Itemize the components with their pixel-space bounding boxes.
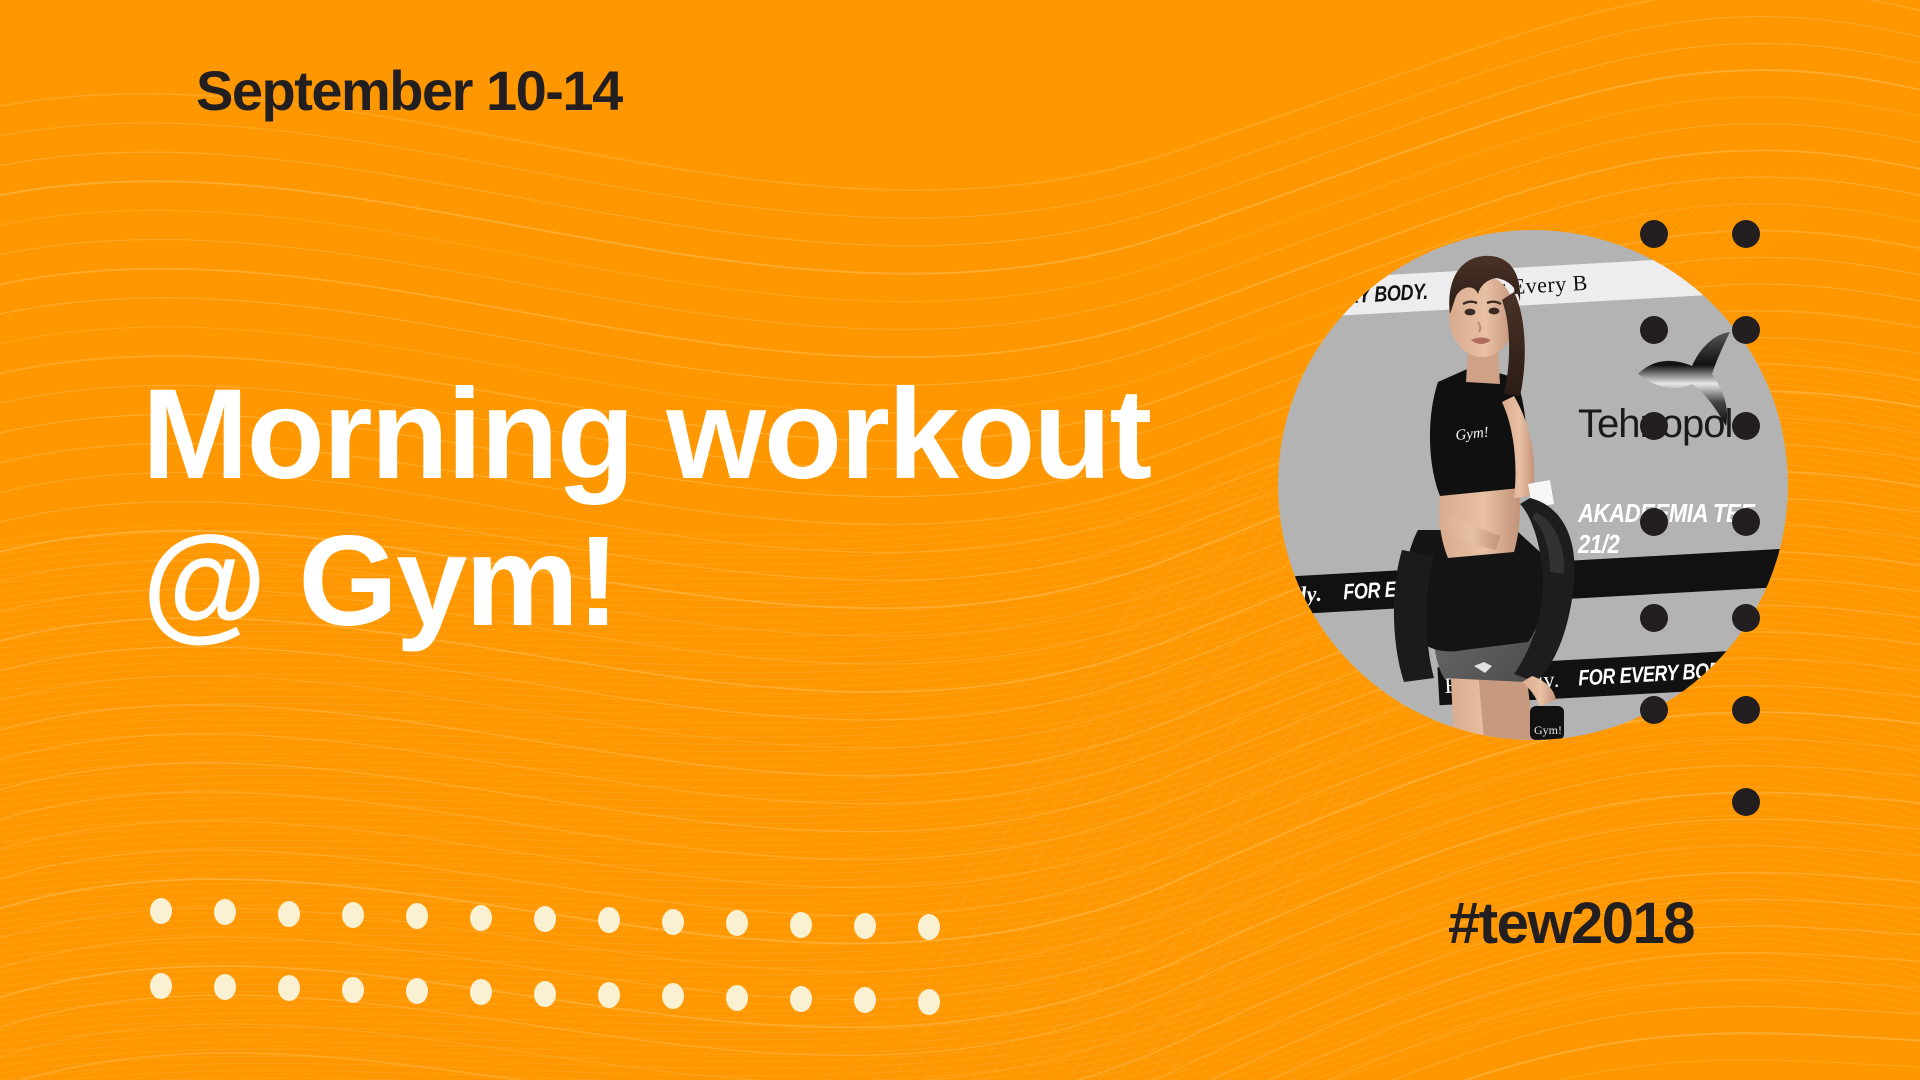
- cream-dot: [726, 910, 748, 936]
- promo-poster: September 10-14 Morning workout @ Gym! R…: [0, 0, 1920, 1080]
- model-figure: Gym! Gym!: [1278, 230, 1788, 740]
- event-hashtag: #tew2018: [1448, 890, 1694, 957]
- headline-line-1: Morning workout: [142, 370, 1150, 501]
- cream-dot: [918, 989, 940, 1015]
- photo-inner: RY Body. EVERY BODY. For Every B VERY Bo…: [1278, 230, 1788, 740]
- cream-dot: [918, 914, 940, 940]
- cream-dot: [790, 986, 812, 1012]
- cream-dot: [214, 899, 236, 925]
- cream-dot: [534, 981, 556, 1007]
- cream-dot: [214, 974, 236, 1000]
- cream-dot: [278, 975, 300, 1001]
- cream-dot: [150, 973, 172, 999]
- cream-dot: [854, 987, 876, 1013]
- cream-dot: [662, 909, 684, 935]
- page-title: Morning workout @ Gym!: [142, 370, 1150, 647]
- cream-dot: [726, 985, 748, 1011]
- headline-line-2: @ Gym!: [142, 517, 1150, 648]
- cream-dot: [406, 903, 428, 929]
- cream-dot: [470, 979, 492, 1005]
- cream-dot: [278, 901, 300, 927]
- cream-dot: [598, 907, 620, 933]
- black-dot: [1732, 788, 1760, 816]
- cream-dot: [406, 978, 428, 1004]
- cream-dot-rows: [150, 880, 1010, 980]
- cream-dot: [342, 977, 364, 1003]
- cream-dot: [342, 902, 364, 928]
- cream-dot: [854, 913, 876, 939]
- cream-dot: [534, 906, 556, 932]
- cream-dot: [470, 905, 492, 931]
- cream-dot: [598, 982, 620, 1008]
- bottle-logo-text: Gym!: [1534, 723, 1562, 737]
- cream-dot: [790, 912, 812, 938]
- cream-dot: [150, 898, 172, 924]
- event-date-label: September 10-14: [196, 58, 622, 123]
- cream-dot: [662, 983, 684, 1009]
- model-photo-circle: RY Body. EVERY BODY. For Every B VERY Bo…: [1278, 230, 1788, 740]
